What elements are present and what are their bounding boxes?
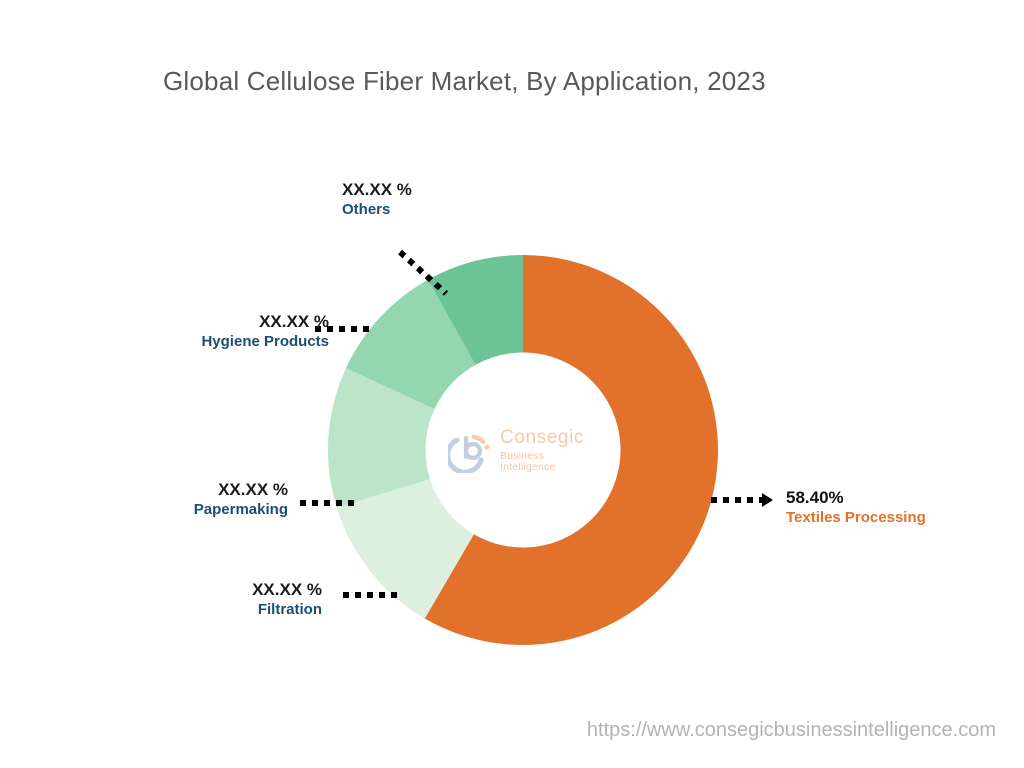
leader-line-filtration xyxy=(343,592,399,598)
callout-papermaking-value: XX.XX % xyxy=(88,479,288,500)
callout-others-label: Others xyxy=(342,200,412,220)
footer-source-url: https://www.consegicbusinessintelligence… xyxy=(587,719,996,742)
donut-chart xyxy=(328,255,718,645)
callout-others-value: XX.XX % xyxy=(342,179,412,200)
callout-filtration: XX.XX % Filtration xyxy=(122,579,322,620)
callout-hygiene-label: Hygiene Products xyxy=(129,332,329,352)
callout-hygiene: XX.XX % Hygiene Products xyxy=(129,311,329,352)
callout-textiles-label: Textiles Processing xyxy=(786,508,926,528)
callout-filtration-label: Filtration xyxy=(122,600,322,620)
callout-others: XX.XX % Others xyxy=(342,179,412,220)
callout-textiles: 58.40% Textiles Processing xyxy=(786,487,926,528)
callout-hygiene-value: XX.XX % xyxy=(129,311,329,332)
callout-textiles-value: 58.40% xyxy=(786,487,926,508)
callout-filtration-value: XX.XX % xyxy=(122,579,322,600)
chart-canvas: Global Cellulose Fiber Market, By Applic… xyxy=(0,0,1024,768)
leader-line-textiles xyxy=(711,497,763,503)
page-title: Global Cellulose Fiber Market, By Applic… xyxy=(163,66,766,97)
leader-line-papermaking xyxy=(300,500,356,506)
callout-papermaking-label: Papermaking xyxy=(88,500,288,520)
donut-svg xyxy=(328,255,718,645)
callout-papermaking: XX.XX % Papermaking xyxy=(88,479,288,520)
leader-arrow-textiles xyxy=(762,493,773,507)
